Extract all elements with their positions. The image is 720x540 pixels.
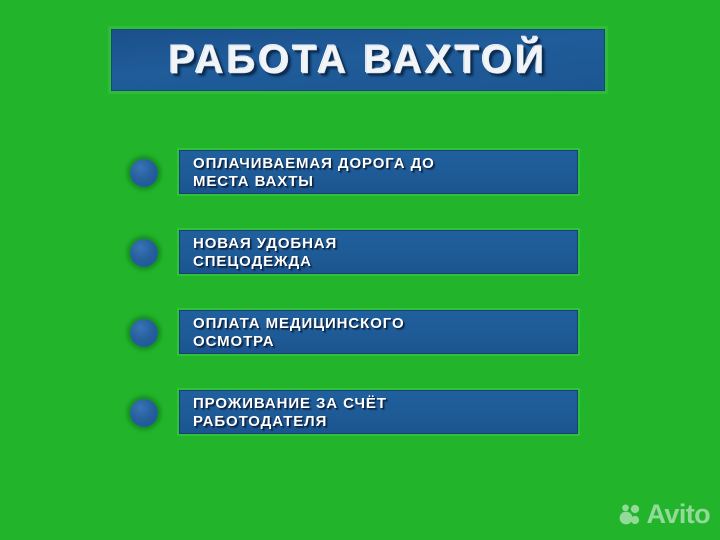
avito-wordmark: Avito bbox=[647, 501, 711, 528]
list-item: ОПЛАТА МЕДИЦИНСКОГО ОСМОТРА bbox=[0, 300, 720, 380]
slide-canvas: РАБОТА ВАХТОЙ ОПЛАЧИВАЕМАЯ ДОРОГА ДО МЕС… bbox=[0, 0, 720, 540]
title-banner: РАБОТА ВАХТОЙ bbox=[108, 26, 608, 94]
bullet-dot-icon bbox=[130, 159, 158, 187]
benefit-label: НОВАЯ УДОБНАЯ СПЕЦОДЕЖДА bbox=[193, 235, 578, 271]
bullet-dot-icon bbox=[130, 399, 158, 427]
benefit-label: ОПЛАТА МЕДИЦИНСКОГО ОСМОТРА bbox=[193, 315, 578, 351]
benefit-label: ПРОЖИВАНИЕ ЗА СЧЁТ РАБОТОДАТЕЛЯ bbox=[193, 395, 578, 431]
list-item: НОВАЯ УДОБНАЯ СПЕЦОДЕЖДА bbox=[0, 220, 720, 300]
benefit-box: ПРОЖИВАНИЕ ЗА СЧЁТ РАБОТОДАТЕЛЯ bbox=[177, 388, 580, 436]
avito-dots-icon bbox=[618, 503, 642, 527]
benefit-box: НОВАЯ УДОБНАЯ СПЕЦОДЕЖДА bbox=[177, 228, 580, 276]
benefit-box: ОПЛАТА МЕДИЦИНСКОГО ОСМОТРА bbox=[177, 308, 580, 356]
bullet-dot-icon bbox=[130, 319, 158, 347]
benefit-box: ОПЛАЧИВАЕМАЯ ДОРОГА ДО МЕСТА ВАХТЫ bbox=[177, 148, 580, 196]
list-item: ПРОЖИВАНИЕ ЗА СЧЁТ РАБОТОДАТЕЛЯ bbox=[0, 380, 720, 460]
avito-watermark: Avito bbox=[618, 501, 711, 528]
benefits-list: ОПЛАЧИВАЕМАЯ ДОРОГА ДО МЕСТА ВАХТЫ НОВАЯ… bbox=[0, 140, 720, 460]
bullet-dot-icon bbox=[130, 239, 158, 267]
page-title: РАБОТА ВАХТОЙ bbox=[169, 40, 548, 80]
list-item: ОПЛАЧИВАЕМАЯ ДОРОГА ДО МЕСТА ВАХТЫ bbox=[0, 140, 720, 220]
benefit-label: ОПЛАЧИВАЕМАЯ ДОРОГА ДО МЕСТА ВАХТЫ bbox=[193, 155, 578, 191]
